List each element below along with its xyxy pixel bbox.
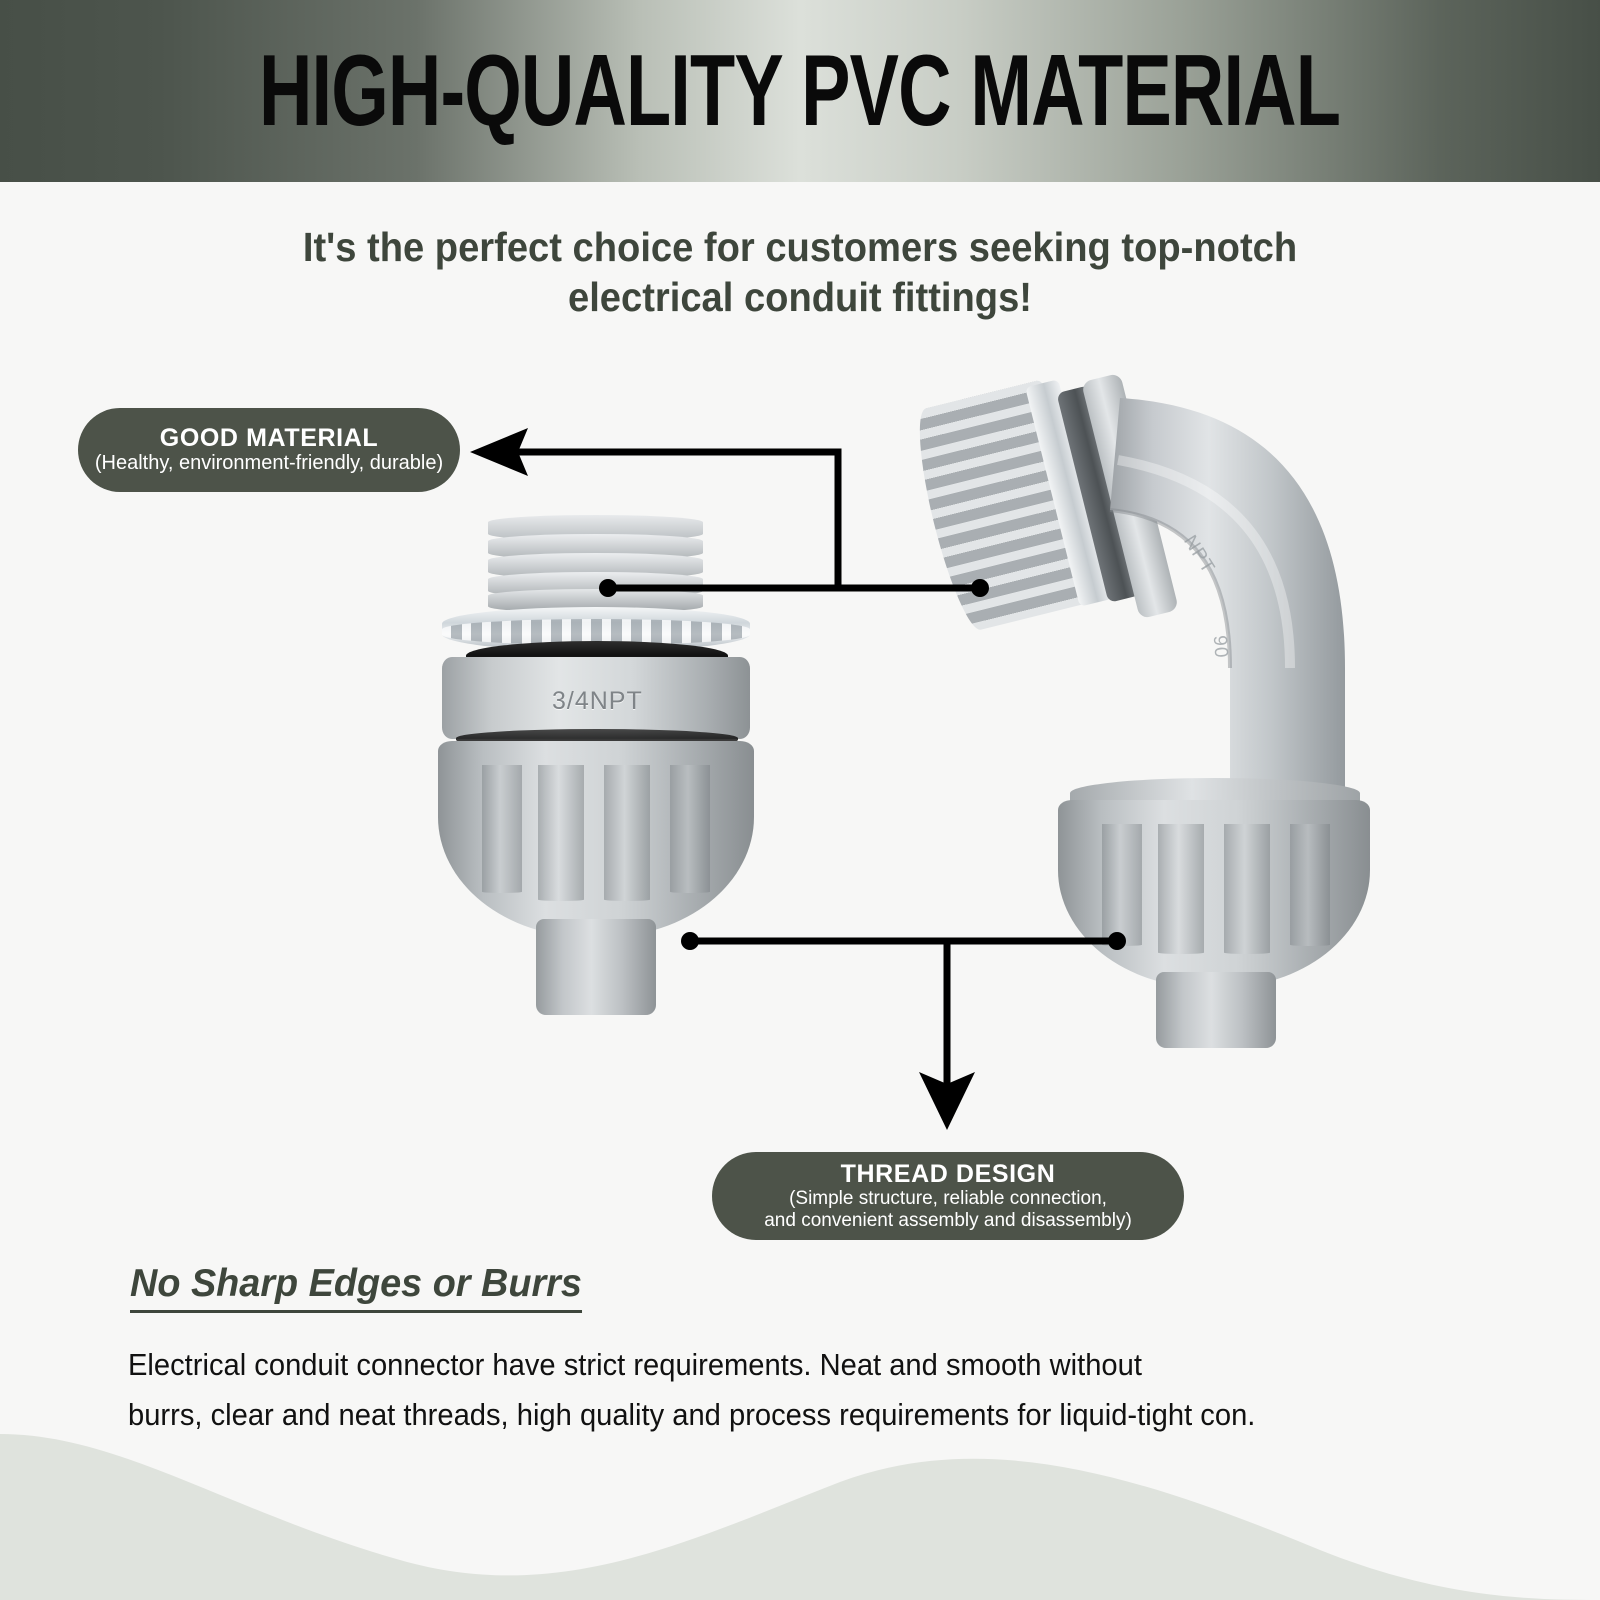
no-sharp-edges-heading: No Sharp Edges or Burrs [130,1262,582,1313]
grip-rib [1102,824,1142,946]
page-title: HIGH-QUALITY PVC MATERIAL [259,40,1340,141]
callout-subtitle-thread-design-line-2: and convenient assembly and disassembly) [764,1210,1132,1232]
subtitle-line-1: It's the perfect choice for customers se… [56,222,1544,272]
callout-title-good-material: GOOD MATERIAL [160,425,378,451]
body-paragraph-line-1: Electrical conduit connector have strict… [128,1340,1378,1390]
elbow-fitting-tail [1156,972,1276,1048]
straight-fitting-illustration: 3/4NPT [430,515,760,1035]
npt-size-label: 3/4NPT [552,687,643,716]
grip-rib [1224,824,1270,954]
grip-rib [1158,824,1204,954]
callout-title-thread-design: THREAD DESIGN [841,1161,1056,1187]
elbow-fitting-illustration: NPT 90 [930,368,1380,1038]
elbow-emboss-90: 90 [1208,635,1232,660]
header-banner: HIGH-QUALITY PVC MATERIAL [0,0,1600,182]
grip-rib [482,765,522,893]
grip-rib [670,765,710,893]
bottom-wave-decoration [0,1420,1600,1600]
grip-rib [1290,824,1330,946]
straight-fitting-threaded-nipple [488,515,703,615]
callout-badge-thread-design[interactable]: THREAD DESIGN (Simple structure, reliabl… [712,1152,1184,1240]
thread-design-arrowhead [919,1072,975,1130]
subtitle: It's the perfect choice for customers se… [56,222,1544,322]
subtitle-line-2: electrical conduit fittings! [56,272,1544,322]
grip-rib [604,765,650,901]
straight-fitting-tail [536,919,656,1015]
callout-badge-good-material[interactable]: GOOD MATERIAL (Healthy, environment-frie… [78,408,460,492]
grip-rib [538,765,584,901]
callout-subtitle-thread-design-line-1: (Simple structure, reliable connection, [789,1188,1107,1210]
callout-subtitle-good-material: (Healthy, environment-friendly, durable) [95,452,443,475]
